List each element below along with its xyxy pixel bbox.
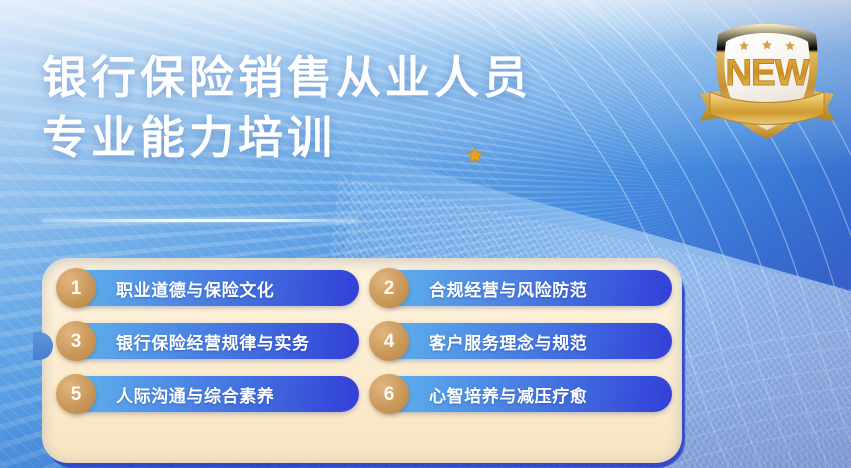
course-label: 银行保险经营规律与实务 (116, 329, 310, 354)
course-label: 客户服务理念与规范 (429, 329, 587, 354)
decor-star-icon (466, 146, 484, 164)
course-item-5[interactable]: 5 人际沟通与综合素养 (62, 376, 359, 412)
title-line-2: 专业能力培训 (42, 108, 662, 168)
new-badge: NEW (694, 18, 840, 150)
banner-stage: 银行保险销售从业人员 专业能力培训 (0, 0, 851, 468)
title-divider (42, 219, 358, 222)
course-number-badge: 6 (369, 374, 409, 414)
course-item-6[interactable]: 6 心智培养与减压疗愈 (375, 376, 672, 412)
course-number-badge: 4 (369, 321, 409, 361)
course-label: 人际沟通与综合素养 (116, 382, 274, 407)
course-number-badge: 2 (369, 268, 409, 308)
course-number-badge: 1 (56, 268, 96, 308)
course-item-3[interactable]: 3 银行保险经营规律与实务 (62, 323, 359, 359)
course-item-4[interactable]: 4 客户服务理念与规范 (375, 323, 672, 359)
course-number-badge: 5 (56, 374, 96, 414)
title-line-1: 银行保险销售从业人员 (42, 52, 532, 103)
course-item-1[interactable]: 1 职业道德与保险文化 (62, 270, 359, 306)
badge-label: NEW (725, 52, 809, 93)
course-item-2[interactable]: 2 合规经营与风险防范 (375, 270, 672, 306)
course-label: 心智培养与减压疗愈 (429, 382, 587, 407)
course-list: 1 职业道德与保险文化 2 合规经营与风险防范 3 银行保险经营规律与实务 4 … (62, 270, 672, 412)
page-title: 银行保险销售从业人员 专业能力培训 (42, 48, 662, 168)
course-label: 职业道德与保险文化 (116, 276, 274, 301)
course-label: 合规经营与风险防范 (429, 276, 587, 301)
course-number-badge: 3 (56, 321, 96, 361)
